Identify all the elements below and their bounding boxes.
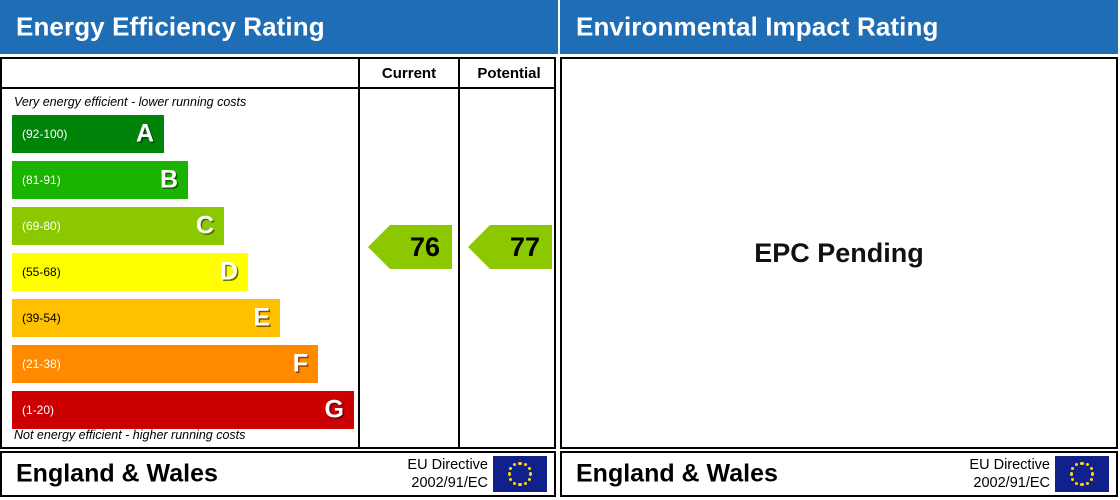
- eu-star: [518, 462, 521, 465]
- eu-flag-icon: [493, 456, 547, 492]
- column-header-potential: Potential: [458, 59, 558, 87]
- eu-star: [1080, 483, 1083, 486]
- band-f-range: (21-38): [22, 358, 61, 370]
- eu-star: [1080, 462, 1083, 465]
- band-b-range: (81-91): [22, 174, 61, 186]
- energy-footer-directive: EU Directive 2002/91/EC: [407, 456, 488, 492]
- eu-star: [1090, 478, 1093, 481]
- eu-star: [1070, 472, 1073, 475]
- energy-directive-line1: EU Directive: [407, 456, 488, 474]
- band-e-letter: E: [253, 306, 270, 331]
- eu-star: [518, 483, 521, 486]
- eu-star: [528, 467, 531, 470]
- band-list: (92-100) A (81-91) B (69-80) C (55-68) D: [2, 115, 358, 425]
- eu-star: [1086, 463, 1089, 466]
- band-d-letter: D: [220, 260, 238, 285]
- energy-footer-region: England & Wales: [16, 460, 218, 489]
- eu-flag-icon: [1055, 456, 1109, 492]
- band-c-letter: C: [196, 214, 214, 239]
- epc-pending-message: EPC Pending: [562, 59, 1116, 447]
- environmental-impact-panel: Environmental Impact Rating EPC Pending …: [560, 0, 1118, 500]
- eu-star: [513, 482, 516, 485]
- eu-star: [1086, 482, 1089, 485]
- band-b: (81-91) B: [12, 161, 188, 199]
- impact-directive-line2: 2002/91/EC: [969, 474, 1050, 492]
- energy-efficiency-panel: Energy Efficiency Rating Current Potenti…: [0, 0, 558, 500]
- impact-panel-header: Environmental Impact Rating: [560, 0, 1118, 54]
- eu-star: [509, 467, 512, 470]
- eu-star: [528, 478, 531, 481]
- band-f: (21-38) F: [12, 345, 318, 383]
- band-a-letter: A: [136, 122, 154, 147]
- energy-panel-title: Energy Efficiency Rating: [16, 12, 325, 43]
- band-d: (55-68) D: [12, 253, 248, 291]
- energy-chart-box: Current Potential Very energy efficient …: [0, 57, 556, 449]
- band-g-range: (1-20): [22, 404, 54, 416]
- column-divider-right: [458, 89, 460, 449]
- band-f-letter: F: [293, 352, 308, 377]
- current-rating-arrow: 76: [368, 225, 452, 269]
- band-b-letter: B: [160, 168, 178, 193]
- column-header-current: Current: [358, 59, 458, 87]
- impact-footer: England & Wales EU Directive 2002/91/EC: [560, 451, 1118, 497]
- band-e: (39-54) E: [12, 299, 280, 337]
- band-c: (69-80) C: [12, 207, 224, 245]
- impact-directive-line1: EU Directive: [969, 456, 1050, 474]
- eu-star: [1090, 467, 1093, 470]
- efficient-note-top: Very energy efficient - lower running co…: [14, 95, 246, 109]
- eu-star: [1071, 478, 1074, 481]
- band-g: (1-20) G: [12, 391, 354, 429]
- eu-star: [1075, 463, 1078, 466]
- efficient-note-bottom: Not energy efficient - higher running co…: [14, 428, 245, 442]
- eu-star: [508, 472, 511, 475]
- eu-star: [1091, 472, 1094, 475]
- impact-footer-region: England & Wales: [576, 460, 778, 489]
- potential-rating-arrow: 77: [468, 225, 552, 269]
- energy-panel-header: Energy Efficiency Rating: [0, 0, 558, 54]
- eu-star: [509, 478, 512, 481]
- efficiency-bands-area: Very energy efficient - lower running co…: [2, 89, 358, 449]
- eu-star: [529, 472, 532, 475]
- energy-directive-line2: 2002/91/EC: [407, 474, 488, 492]
- energy-footer: England & Wales EU Directive 2002/91/EC: [0, 451, 556, 497]
- band-d-range: (55-68): [22, 266, 61, 278]
- eu-star: [513, 463, 516, 466]
- eu-star: [1071, 467, 1074, 470]
- column-divider-left: [358, 89, 360, 449]
- impact-chart-box: EPC Pending: [560, 57, 1118, 449]
- impact-footer-directive: EU Directive 2002/91/EC: [969, 456, 1050, 492]
- eu-star: [524, 463, 527, 466]
- epc-certificate-graphic: Energy Efficiency Rating Current Potenti…: [0, 0, 1120, 500]
- band-g-letter: G: [325, 398, 344, 423]
- impact-panel-title: Environmental Impact Rating: [576, 12, 938, 43]
- eu-star: [1075, 482, 1078, 485]
- band-a: (92-100) A: [12, 115, 164, 153]
- band-a-range: (92-100): [22, 128, 67, 140]
- eu-star: [524, 482, 527, 485]
- band-c-range: (69-80): [22, 220, 61, 232]
- band-e-range: (39-54): [22, 312, 61, 324]
- rating-columns-header: Current Potential: [2, 59, 554, 89]
